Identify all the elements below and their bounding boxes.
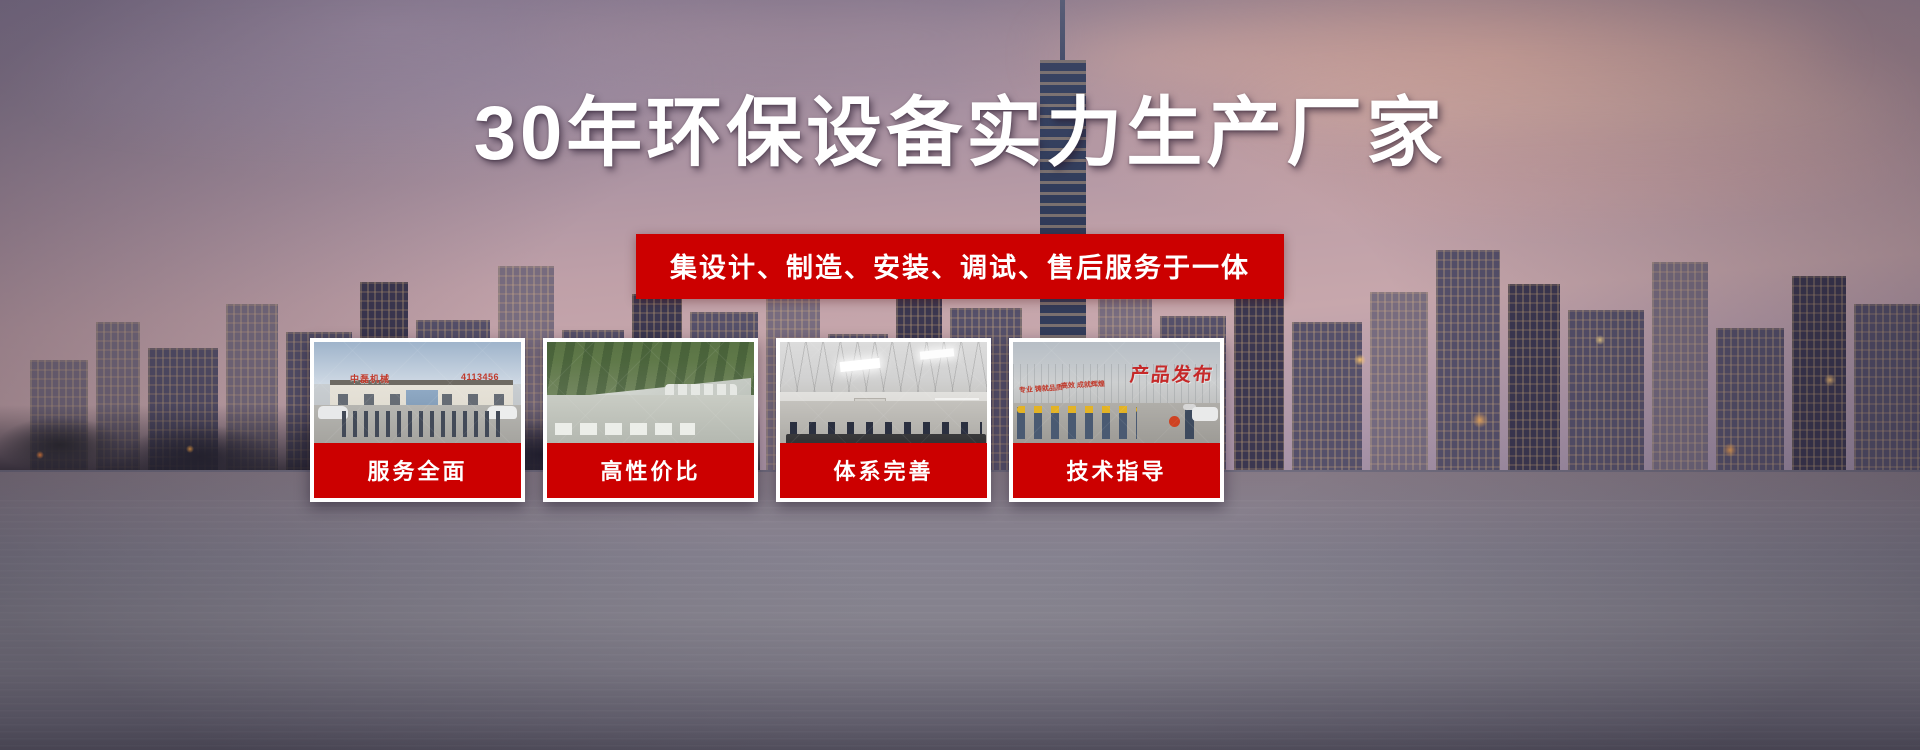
feature-card[interactable]: 中磊机械 4113456 服务全面 xyxy=(310,338,525,502)
feature-card[interactable]: 体系完善 xyxy=(776,338,991,502)
feature-card[interactable]: 高性价比 xyxy=(543,338,758,502)
subtitle-banner-wrap: 集设计、制造、安装、调试、售后服务于一体 xyxy=(0,234,1920,299)
office-interior-team-photo xyxy=(780,342,987,443)
company-phone-text: 4113456 xyxy=(461,372,499,382)
white-van xyxy=(1192,407,1218,421)
parked-trucks xyxy=(555,423,695,435)
feature-card-label: 体系完善 xyxy=(780,443,987,498)
feature-card[interactable]: 专业 铸就品质 高效 成就辉煌 产品发布 技术指导 xyxy=(1009,338,1224,502)
factory-wall-sign: 产品发布 xyxy=(1129,366,1215,385)
subtitle-banner: 集设计、制造、安装、调试、售后服务于一体 xyxy=(636,234,1284,299)
company-sign-text: 中磊机械 xyxy=(350,372,390,385)
aerial-factory-plant-photo xyxy=(547,342,754,443)
factory-exterior-workers-photo: 专业 铸就品质 高效 成就辉煌 产品发布 xyxy=(1013,342,1220,443)
red-equipment xyxy=(1169,416,1180,427)
office-desks xyxy=(786,434,986,443)
safety-helmets xyxy=(1017,406,1137,413)
hero-headline: 30年环保设备实力生产厂家 xyxy=(0,96,1920,172)
feature-card-label: 高性价比 xyxy=(547,443,754,498)
hero-banner: 30年环保设备实力生产厂家 集设计、制造、安装、调试、售后服务于一体 中磊机械 … xyxy=(0,0,1920,750)
feature-card-label: 技术指导 xyxy=(1013,443,1220,498)
staff-lineup xyxy=(342,411,504,437)
feature-card-label: 服务全面 xyxy=(314,443,521,498)
feature-card-list: 中磊机械 4113456 服务全面 高性价比 xyxy=(310,338,1610,502)
office-building-staff-photo: 中磊机械 4113456 xyxy=(314,342,521,443)
